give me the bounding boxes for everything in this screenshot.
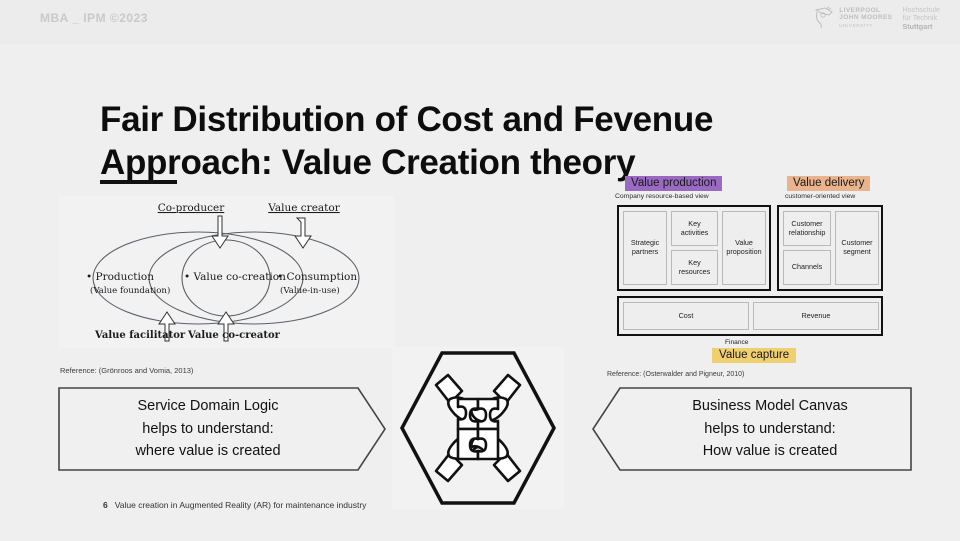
footer-page-number: 6 (103, 500, 108, 510)
tag-value-capture: Value capture (712, 348, 796, 363)
banner-left-line-2: helps to understand: (58, 418, 358, 441)
canvas-cell-cost: Cost (623, 302, 749, 330)
hft-line-3: Stuttgart (902, 22, 932, 31)
tag-value-delivery: Value delivery (787, 176, 870, 191)
course-brand-label: MBA _ IPM ©2023 (40, 11, 148, 25)
ljmu-logo: LIVERPOOL JOHN MOORES UNIVERSITY (813, 6, 892, 30)
canvas-cell-customer-segment: Customersegment (835, 211, 879, 285)
canvas-cell-customer-relationship: Customerrelationship (783, 211, 831, 246)
canvas-cell-key-resources: Keyresources (671, 250, 718, 285)
venn-sub-production: (Value foundation) (90, 285, 170, 296)
venn-bullet-consumption: • Consumption (277, 271, 357, 283)
venn-bullet-cocreation: • Value co-creation (184, 271, 286, 283)
canvas-cell-revenue: Revenue (753, 302, 879, 330)
business-model-canvas: Value production Company resource-based … (607, 176, 893, 381)
banner-left-line-3: where value is created (58, 440, 358, 463)
value-cocreation-venn-diagram: Co-producer Value creator • Production (… (58, 196, 394, 348)
banner-right-line-2: helps to understand: (620, 418, 920, 441)
canvas-cell-key-activities: Keyactivities (671, 211, 718, 246)
tag-value-production: Value production (625, 176, 722, 191)
ljmu-logo-text: LIVERPOOL JOHN MOORES UNIVERSITY (839, 7, 892, 29)
canvas-cell-value-proposition: Valueproposition (722, 211, 766, 285)
banner-right-line-1: Business Model Canvas (620, 395, 920, 418)
slide: MBA _ IPM ©2023 LIVERPOOL JOHN MOORES UN… (0, 0, 960, 541)
canvas-group-finance: Cost Revenue (617, 296, 883, 336)
slide-header-bar: MBA _ IPM ©2023 LIVERPOOL JOHN MOORES UN… (0, 0, 960, 44)
title-underline (100, 180, 177, 184)
canvas-group-delivery: Customerrelationship Channels Customerse… (777, 205, 883, 291)
ljmu-line-3: UNIVERSITY (839, 22, 892, 29)
ljmu-line-2: JOHN MOORES (839, 14, 892, 21)
venn-sub-consumption: (Value-in-use) (280, 285, 340, 296)
venn-label-value-facilitator: Value facilitator (94, 330, 186, 341)
banner-right-line-3: How value is created (620, 440, 920, 463)
canvas-group-production: Strategicpartners Keyactivities Keyresou… (617, 205, 771, 291)
footer-text: Value creation in Augmented Reality (AR)… (115, 500, 367, 510)
title-line-1: Fair Distribution of Cost and Fevenue (100, 98, 800, 141)
venn-reference: Reference: (Grönroos and Vomia, 2013) (60, 366, 193, 375)
hft-stuttgart-logo: Hochschule für Technik Stuttgart (902, 6, 940, 31)
slide-footer: 6Value creation in Augmented Reality (AR… (103, 500, 366, 510)
subtitle-customer-oriented-view: customer-oriented view (785, 193, 855, 200)
canvas-cell-channels: Channels (783, 250, 831, 285)
canvas-reference: Reference: (Osterwalder and Pigneur, 201… (607, 371, 744, 378)
banner-left-text: Service Domain Logic helps to understand… (58, 395, 358, 463)
ljmu-line-1: LIVERPOOL (839, 7, 892, 14)
ljmu-crest-icon (813, 6, 835, 30)
slide-title: Fair Distribution of Cost and Fevenue Ap… (100, 98, 800, 184)
venn-label-co-producer: Co-producer (158, 202, 226, 214)
hexagon-hands-puzzle-graphic (392, 347, 564, 509)
venn-bullet-production: • Production (86, 271, 154, 283)
venn-label-value-co-creator: Value co-creator (187, 330, 281, 341)
banner-right-text: Business Model Canvas helps to understan… (620, 395, 920, 463)
label-finance: Finance (725, 339, 748, 346)
logo-group: LIVERPOOL JOHN MOORES UNIVERSITY Hochsch… (813, 6, 940, 31)
hexagon-hands-puzzle-icon (392, 347, 564, 509)
banner-left-line-1: Service Domain Logic (58, 395, 358, 418)
venn-label-value-creator: Value creator (267, 202, 340, 214)
canvas-cell-strategic-partners: Strategicpartners (623, 211, 667, 285)
subtitle-company-resource-view: Company resource-based view (615, 193, 709, 200)
